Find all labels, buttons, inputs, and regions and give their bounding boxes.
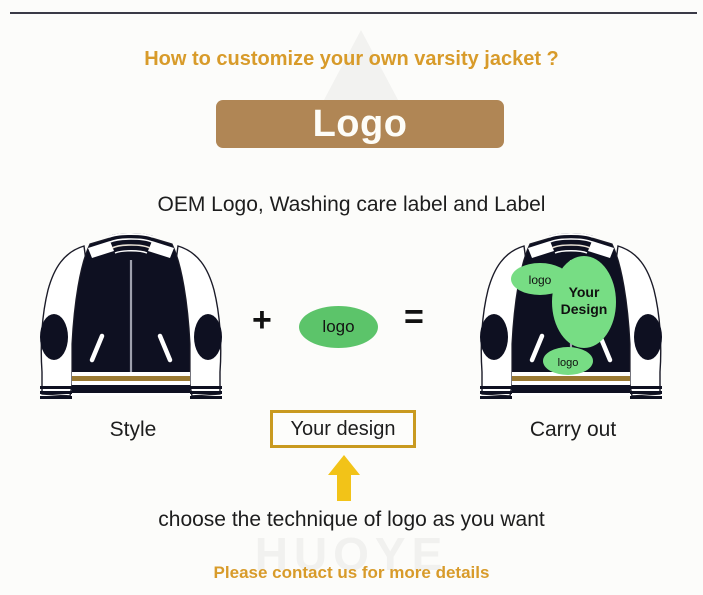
equals-icon: = [404,300,424,334]
arrow-up-icon [326,455,362,501]
jacket-overlay-your-design-line1: Your [569,284,600,300]
caption-carry-out: Carry out [498,418,648,442]
technique-line: choose the technique of logo as you want [0,508,703,532]
jacket-illustration-style [18,224,244,416]
jacket-overlay-logo-chest-label: logo [529,273,552,287]
page-subheading: OEM Logo, Washing care label and Label [0,193,703,217]
logo-oval-badge: logo [299,306,378,348]
contact-line: Please contact us for more details [0,563,703,583]
jacket-illustration-carry-out: logo Your Design logo [458,224,684,416]
jacket-overlay-your-design-line2: Design [561,301,608,317]
page-headline: How to customize your own varsity jacket… [0,48,703,71]
plus-icon: + [252,303,272,337]
promo-infographic: HUOYE How to customize your own varsity … [0,0,703,595]
logo-banner: Logo [216,100,504,148]
caption-style: Style [58,418,208,442]
your-design-box[interactable]: Your design [270,410,416,448]
your-design-box-label: Your design [273,413,413,445]
logo-oval-label: logo [299,306,378,348]
top-divider [10,12,697,14]
logo-banner-label: Logo [216,100,504,148]
jacket-overlay-logo-lower-label: logo [558,357,579,369]
